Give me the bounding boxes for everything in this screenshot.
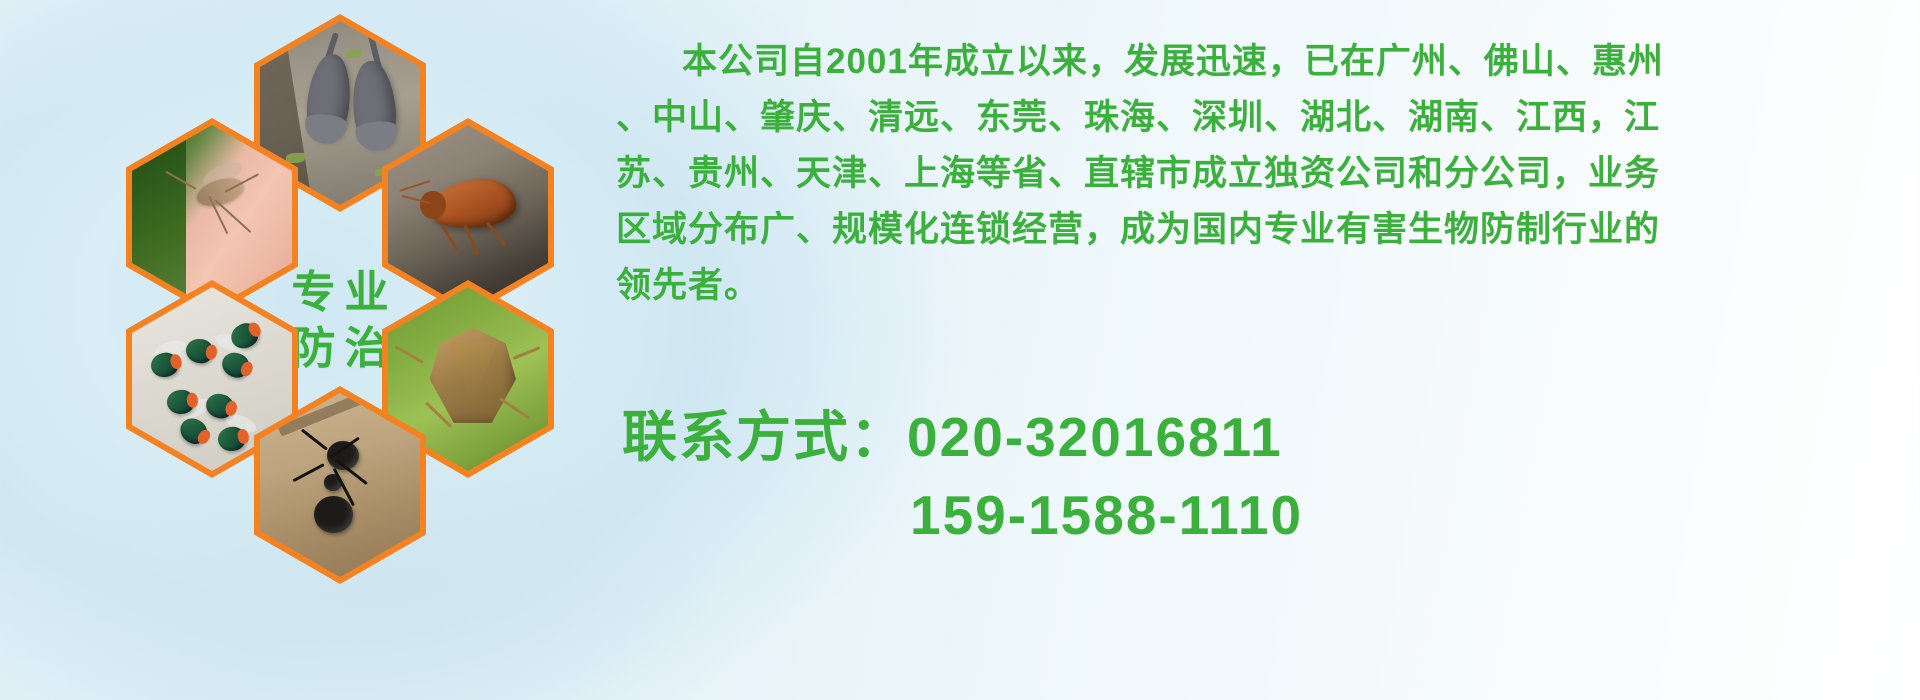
description-line-3: 苏、贵州、天津、上海等省、直辖市成立独资公司和分公司，业务 [616, 146, 1906, 202]
description-line-4: 区域分布广、规模化连锁经营，成为国内专业有害生物防制行业的 [616, 202, 1906, 258]
contact-secondary-line: 159-1588-1110 [622, 476, 1902, 554]
contact-label: 联系方式： [622, 406, 907, 468]
honeycomb-logo: 专业 防治 [88, 8, 588, 556]
contact-block: 联系方式：020-32016811 159-1588-1110 [622, 398, 1902, 554]
contact-phone-landline[interactable]: 020-32016811 [907, 406, 1283, 468]
contact-primary-line: 联系方式：020-32016811 [622, 398, 1902, 476]
contact-phone-mobile[interactable]: 159-1588-1110 [910, 484, 1303, 546]
description-line-1: 本公司自2001年成立以来，发展迅速，已在广州、佛山、惠州 [616, 34, 1906, 90]
description-line-5: 领先者。 [616, 258, 1906, 314]
ant-photo [260, 393, 420, 577]
logo-text-line1: 专业 [283, 265, 398, 321]
description-line-2: 、中山、肇庆、清远、东莞、珠海、深圳、湖北、湖南、江西，江 [616, 90, 1906, 146]
company-description: 本公司自2001年成立以来，发展迅速，已在广州、佛山、惠州 、中山、肇庆、清远、… [616, 34, 1906, 314]
logo-text-line2: 防治 [283, 321, 398, 377]
